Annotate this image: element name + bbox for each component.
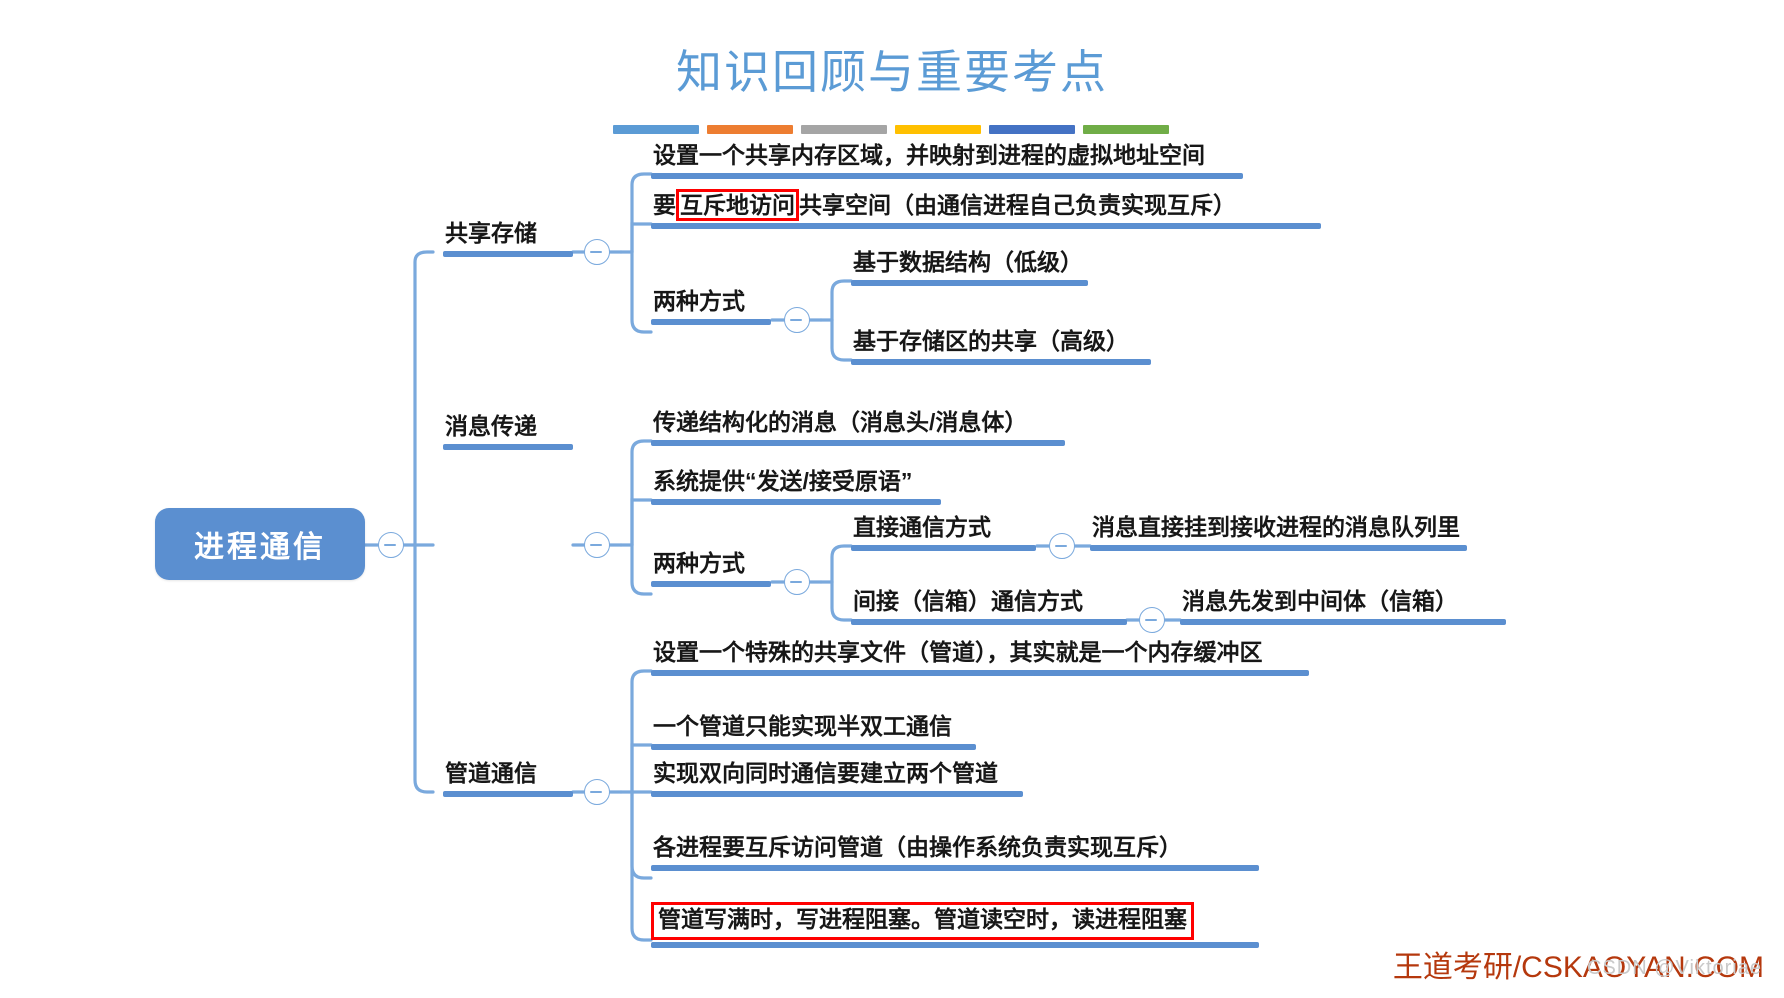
branch-message-passing[interactable]: 消息传递 — [443, 415, 573, 450]
node-mailbox-intermediate[interactable]: 消息先发到中间体（信箱） — [1180, 590, 1506, 625]
chip-dark-blue — [989, 125, 1075, 134]
node-shared-memory-region-label: 设置一个共享内存区域，并映射到进程的虚拟地址空间 — [651, 144, 1207, 173]
chip-orange — [707, 125, 793, 134]
node-underline — [651, 791, 1023, 797]
node-storage-area-sharing[interactable]: 基于存储区的共享（高级） — [851, 330, 1151, 365]
root-node-label: 进程通信 — [194, 522, 326, 566]
node-underline — [1180, 619, 1506, 625]
node-underline — [651, 223, 1321, 229]
branch-pipe-communication-label: 管道通信 — [443, 762, 539, 791]
csdn-watermark: CSDN @Viktoriae — [1587, 957, 1762, 980]
highlight-box-mutual-exclusion: 互斥地访问 — [676, 189, 799, 221]
node-storage-area-sharing-label: 基于存储区的共享（高级） — [851, 330, 1131, 359]
chip-yellow — [895, 125, 981, 134]
toggle-pipe-communication[interactable] — [584, 779, 610, 805]
node-underline — [851, 619, 1127, 625]
node-data-structure-based[interactable]: 基于数据结构（低级） — [851, 251, 1088, 286]
toggle-two-methods-shared[interactable] — [784, 307, 810, 333]
branch-shared-storage[interactable]: 共享存储 — [443, 222, 573, 257]
node-direct-communication-label: 直接通信方式 — [851, 516, 993, 545]
node-special-shared-file[interactable]: 设置一个特殊的共享文件（管道），其实就是一个内存缓冲区 — [651, 641, 1309, 676]
node-pipe-blocking-label: 管道写满时，写进程阻塞。管道读空时，读进程阻塞 — [651, 902, 1194, 940]
node-two-methods-shared-label: 两种方式 — [651, 290, 747, 319]
chip-light-blue — [613, 125, 699, 134]
node-send-receive-primitives[interactable]: 系统提供“发送/接受原语” — [651, 470, 941, 505]
node-underline — [851, 545, 1036, 551]
toggle-shared-storage[interactable] — [584, 239, 610, 265]
node-direct-message-queue-label: 消息直接挂到接收进程的消息队列里 — [1090, 516, 1462, 545]
node-underline — [651, 581, 771, 587]
mindmap-canvas: 知识回顾与重要考点 — [0, 0, 1784, 998]
branch-shared-storage-label: 共享存储 — [443, 222, 539, 251]
node-underline — [651, 744, 976, 750]
node-two-methods-message[interactable]: 两种方式 — [651, 552, 771, 587]
node-underline — [443, 791, 573, 797]
toggle-indirect-communication[interactable] — [1139, 607, 1165, 633]
node-mutual-exclusion-access[interactable]: 要互斥地访问共享空间（由通信进程自己负责实现互斥） — [651, 194, 1321, 229]
branch-pipe-communication[interactable]: 管道通信 — [443, 762, 573, 797]
node-underline — [851, 359, 1151, 365]
text-prefix: 要 — [653, 192, 676, 218]
node-underline — [651, 499, 941, 505]
node-two-pipes-full-duplex[interactable]: 实现双向同时通信要建立两个管道 — [651, 762, 1023, 797]
color-chip-strip — [613, 125, 1169, 134]
node-half-duplex[interactable]: 一个管道只能实现半双工通信 — [651, 715, 976, 750]
branch-message-passing-label: 消息传递 — [443, 415, 539, 444]
node-underline — [651, 440, 1065, 446]
node-direct-communication[interactable]: 直接通信方式 — [851, 516, 1036, 551]
toggle-direct-communication[interactable] — [1049, 533, 1075, 559]
node-pipe-blocking[interactable]: 管道写满时，写进程阻塞。管道读空时，读进程阻塞 — [651, 902, 1259, 948]
chip-green — [1083, 125, 1169, 134]
node-underline — [443, 251, 573, 257]
node-special-shared-file-label: 设置一个特殊的共享文件（管道），其实就是一个内存缓冲区 — [651, 641, 1265, 670]
node-two-pipes-full-duplex-label: 实现双向同时通信要建立两个管道 — [651, 762, 1000, 791]
node-pipe-mutual-exclusion-label: 各进程要互斥访问管道（由操作系统负责实现互斥） — [651, 836, 1184, 865]
toggle-root[interactable] — [378, 532, 404, 558]
node-half-duplex-label: 一个管道只能实现半双工通信 — [651, 715, 954, 744]
node-structured-message-label: 传递结构化的消息（消息头/消息体） — [651, 411, 1029, 440]
node-two-methods-shared[interactable]: 两种方式 — [651, 290, 771, 325]
node-shared-memory-region[interactable]: 设置一个共享内存区域，并映射到进程的虚拟地址空间 — [651, 144, 1243, 179]
toggle-two-methods-message[interactable] — [784, 569, 810, 595]
node-underline — [651, 670, 1309, 676]
node-two-methods-message-label: 两种方式 — [651, 552, 747, 581]
node-underline — [1090, 545, 1467, 551]
root-node-process-communication[interactable]: 进程通信 — [155, 508, 365, 580]
chip-gray — [801, 125, 887, 134]
node-underline — [651, 319, 771, 325]
node-underline — [851, 280, 1088, 286]
node-pipe-mutual-exclusion[interactable]: 各进程要互斥访问管道（由操作系统负责实现互斥） — [651, 836, 1259, 871]
text-suffix: 共享空间（由通信进程自己负责实现互斥） — [799, 192, 1236, 218]
node-direct-message-queue[interactable]: 消息直接挂到接收进程的消息队列里 — [1090, 516, 1467, 551]
node-mailbox-intermediate-label: 消息先发到中间体（信箱） — [1180, 590, 1460, 619]
node-underline — [651, 942, 1259, 948]
page-title: 知识回顾与重要考点 — [0, 36, 1784, 102]
node-indirect-mailbox-communication[interactable]: 间接（信箱）通信方式 — [851, 590, 1127, 625]
node-underline — [651, 173, 1243, 179]
node-underline — [651, 865, 1259, 871]
node-underline — [443, 444, 573, 450]
node-data-structure-based-label: 基于数据结构（低级） — [851, 251, 1085, 280]
toggle-message-passing[interactable] — [584, 532, 610, 558]
node-structured-message[interactable]: 传递结构化的消息（消息头/消息体） — [651, 411, 1065, 446]
node-mutual-exclusion-access-label: 要互斥地访问共享空间（由通信进程自己负责实现互斥） — [651, 194, 1238, 223]
node-send-receive-primitives-label: 系统提供“发送/接受原语” — [651, 470, 914, 499]
node-indirect-mailbox-communication-label: 间接（信箱）通信方式 — [851, 590, 1085, 619]
